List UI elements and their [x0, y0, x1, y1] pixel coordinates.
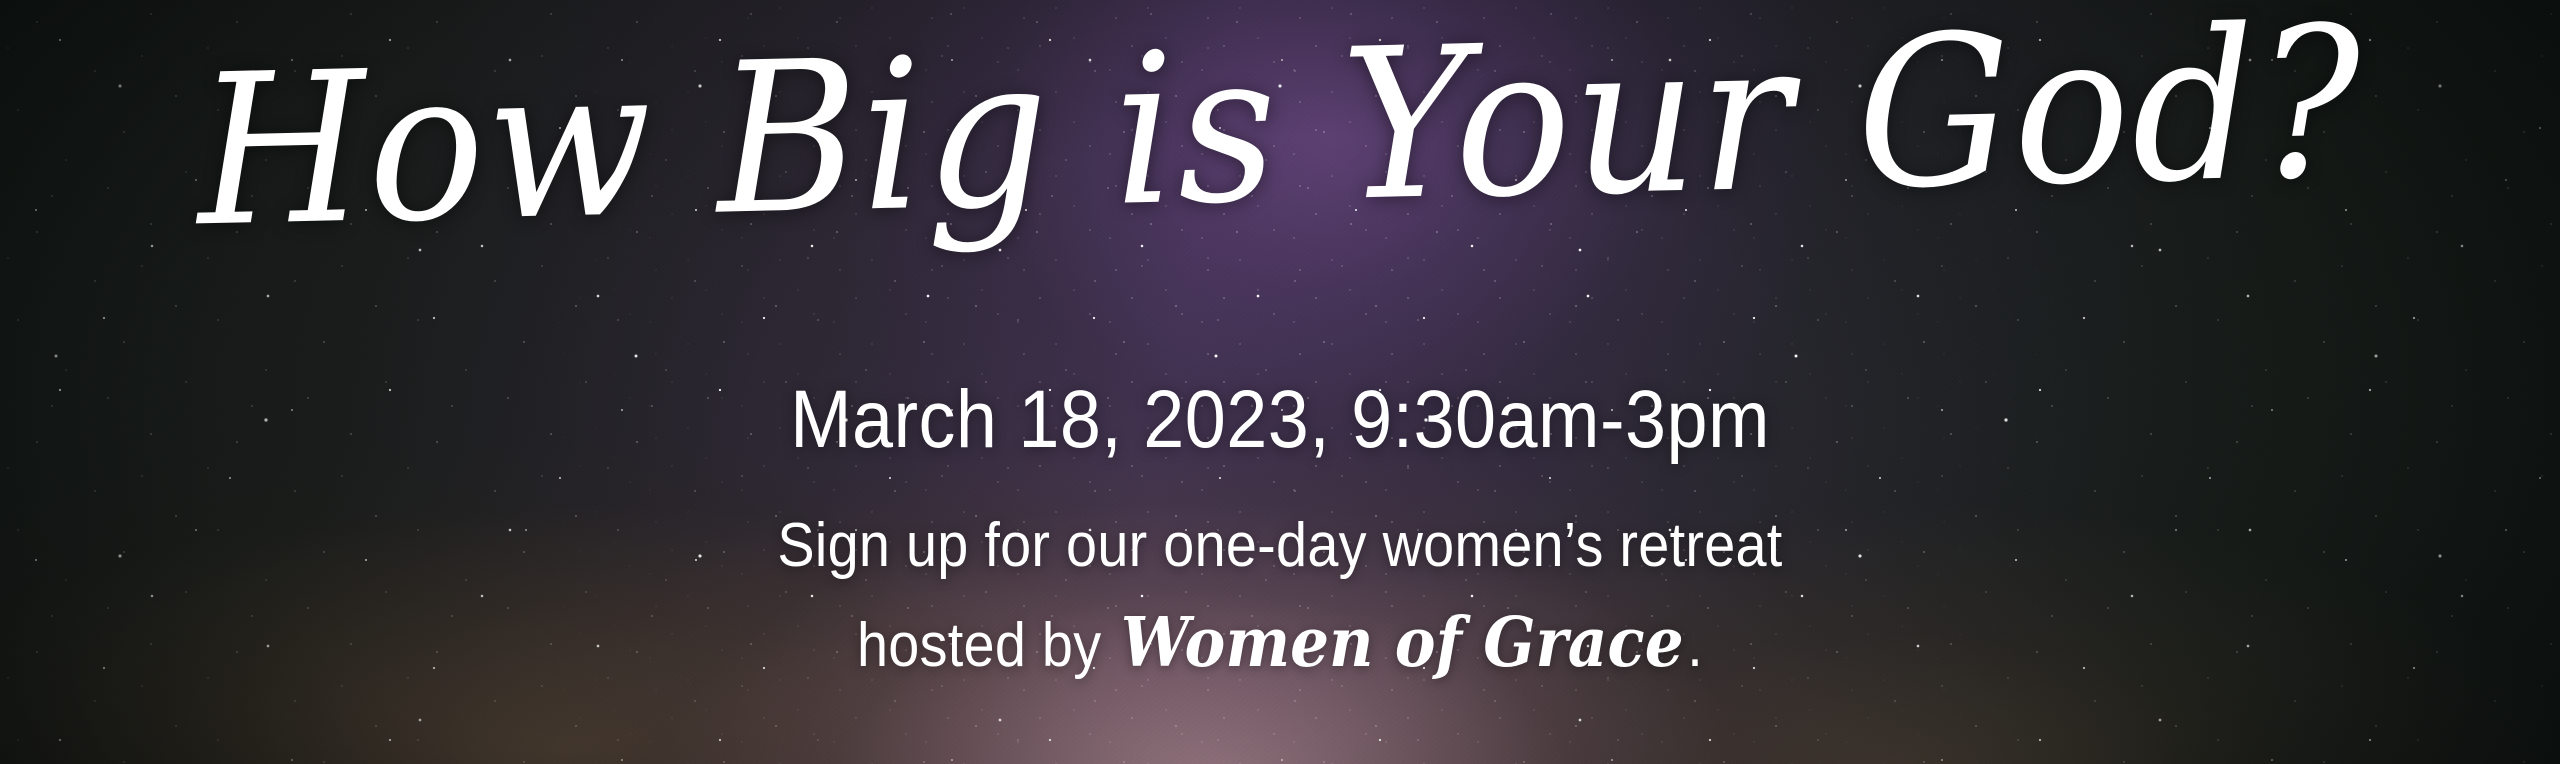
- banner-headline: How Big is Your God?: [87, 0, 2472, 278]
- banner-content: How Big is Your God? March 18, 2023, 9:3…: [0, 0, 2560, 764]
- event-date-time: March 18, 2023, 9:30am-3pm: [128, 378, 2432, 462]
- subtitle-period: .: [1687, 611, 1703, 680]
- organization-name: Women of Grace: [1117, 603, 1687, 683]
- event-banner: How Big is Your God? March 18, 2023, 9:3…: [0, 0, 2560, 764]
- banner-subtitle-line-1: Sign up for our one-day women’s retreat: [128, 513, 2432, 578]
- banner-subtitle-line-2: hosted by Women of Grace.: [128, 608, 2432, 679]
- hosted-by-label: hosted by: [857, 611, 1117, 680]
